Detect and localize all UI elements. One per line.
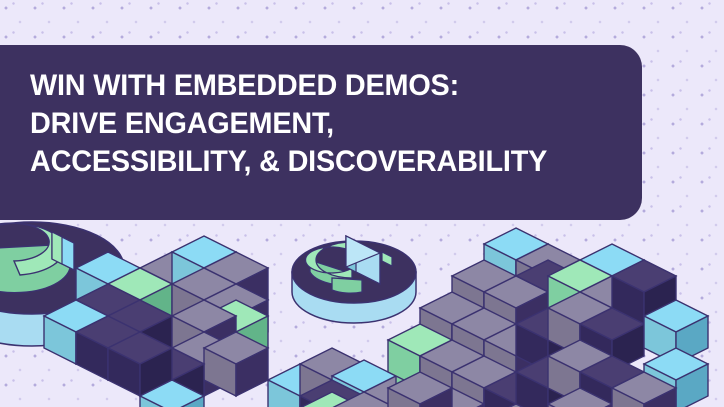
page-title-line-2: DRIVE ENGAGEMENT,: [30, 105, 594, 143]
title-card: WIN WITH EMBEDDED DEMOS: DRIVE ENGAGEMEN…: [0, 45, 642, 220]
disc-center-play: [292, 236, 416, 323]
cube-cluster-right: [388, 228, 708, 407]
title-text-block: WIN WITH EMBEDDED DEMOS: DRIVE ENGAGEMEN…: [30, 67, 618, 181]
page-title-line-1: WIN WITH EMBEDDED DEMOS:: [30, 67, 594, 105]
banner-stage: WIN WITH EMBEDDED DEMOS: DRIVE ENGAGEMEN…: [0, 0, 724, 407]
page-title-line-3: ACCESSIBILITY, & DISCOVERABILITY: [30, 143, 594, 181]
